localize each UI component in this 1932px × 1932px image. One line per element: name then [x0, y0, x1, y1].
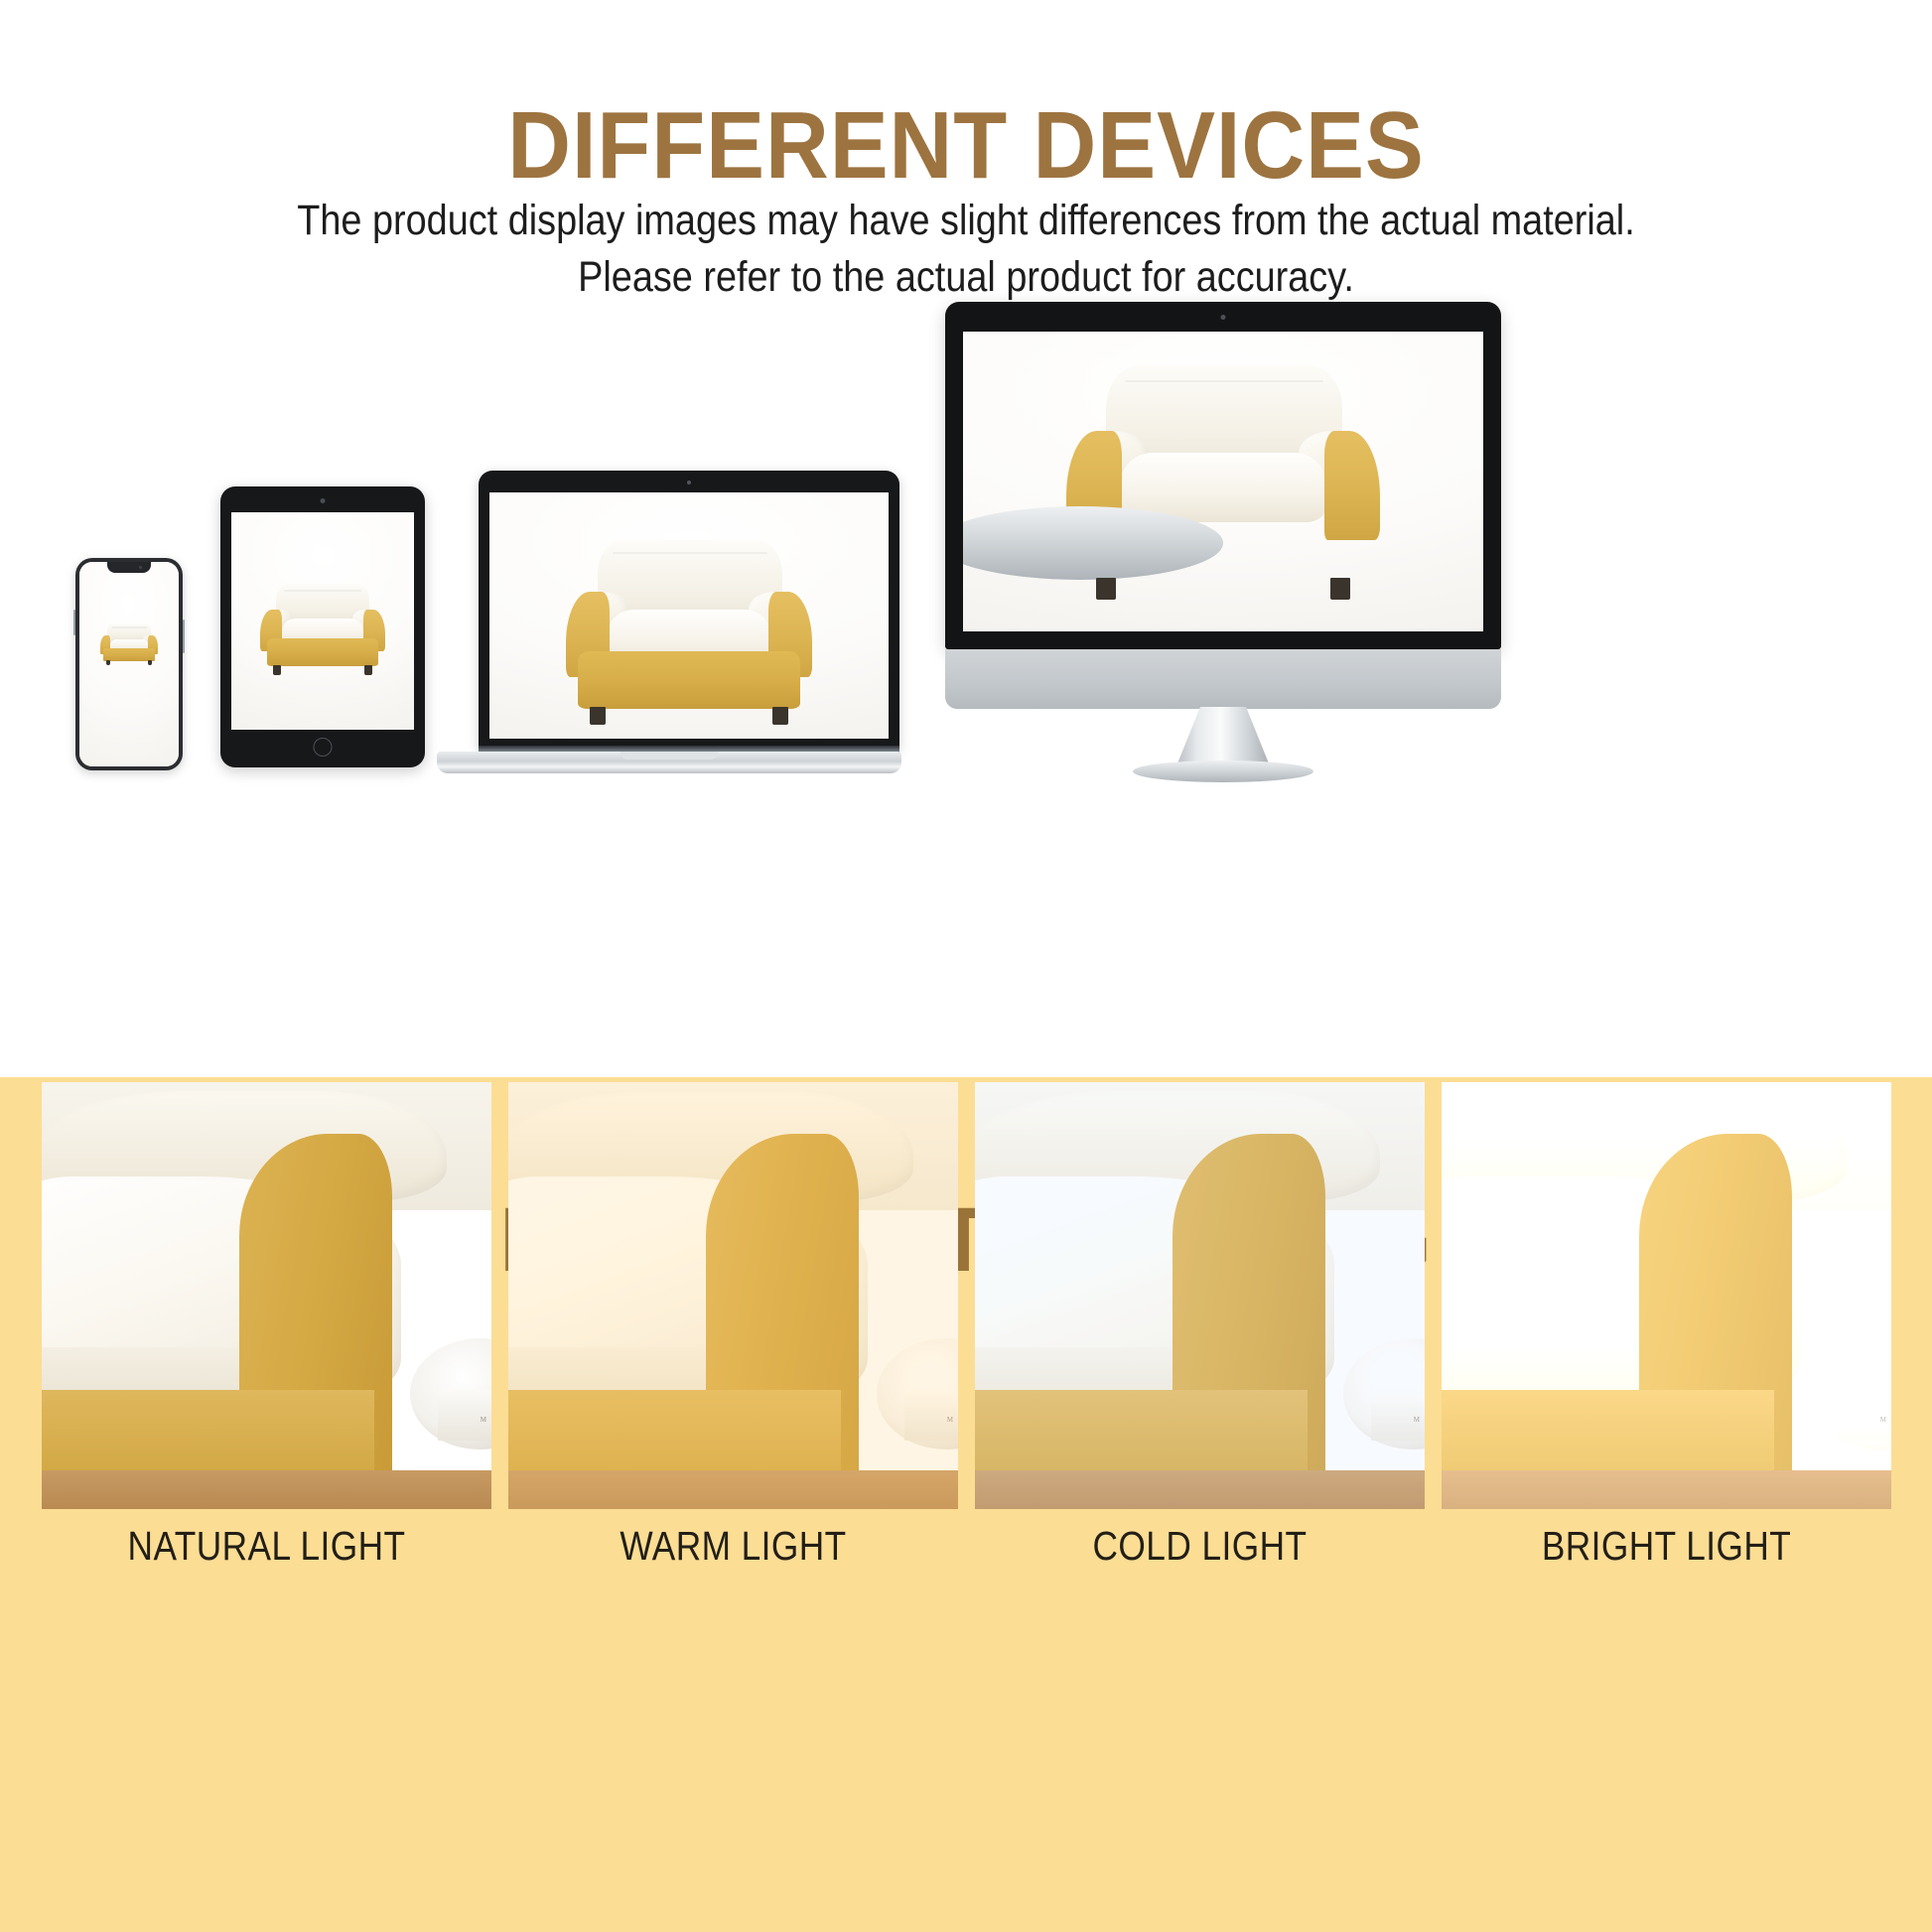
- tablet-screen: [231, 512, 414, 730]
- device-mockups-row: [0, 288, 1932, 1003]
- monitor-chin: [945, 649, 1501, 709]
- front-camera-icon: [1221, 315, 1226, 320]
- armchair-closeup-photo: M: [508, 1082, 958, 1509]
- lighting-photo-bright[interactable]: M: [1442, 1082, 1891, 1509]
- photo-floor: [975, 1470, 1425, 1509]
- tablet-screen-product-image: [231, 512, 414, 730]
- front-camera-icon: [139, 566, 142, 569]
- photo-floor: [42, 1470, 491, 1509]
- phone-screen: [79, 562, 179, 766]
- laptop-lid: [479, 471, 899, 750]
- laptop-trackpad-notch: [621, 752, 718, 759]
- tablet-mockup: [220, 486, 425, 767]
- devices-title: DIFFERENT DEVICES: [77, 91, 1855, 201]
- phone-power-button: [183, 620, 185, 653]
- tablet-home-button[interactable]: [314, 738, 333, 757]
- lighting-photo-natural[interactable]: M: [42, 1082, 491, 1509]
- different-devices-section: DIFFERENT DEVICES The product display im…: [0, 0, 1932, 1077]
- armchair-closeup-photo: M: [1442, 1082, 1891, 1509]
- photo-book-text: M: [481, 1416, 487, 1424]
- phone-volume-button: [73, 610, 75, 635]
- lighting-tile-warm: M WARM LIGHT: [508, 1082, 958, 1509]
- monitor-mockup: [945, 302, 1501, 778]
- product-detail-page: DIFFERENT DEVICES The product display im…: [0, 0, 1932, 1932]
- devices-subtitle-line-1: The product display images may have slig…: [116, 197, 1816, 245]
- monitor-screen-product-image: [963, 332, 1483, 631]
- lighting-label-bright: BRIGHT LIGHT: [1473, 1523, 1861, 1570]
- monitor-bezel: [945, 302, 1501, 649]
- laptop-mockup: [437, 471, 901, 778]
- armchair-closeup-photo: M: [975, 1082, 1425, 1509]
- phone-screen-product-image: [79, 562, 179, 766]
- lighting-label-cold: COLD LIGHT: [1007, 1523, 1394, 1570]
- lighting-label-warm: WARM LIGHT: [540, 1523, 927, 1570]
- lighting-label-natural: NATURAL LIGHT: [73, 1523, 461, 1570]
- lighting-tile-cold: M COLD LIGHT: [975, 1082, 1425, 1509]
- phone-notch: [107, 562, 151, 573]
- lighting-photo-warm[interactable]: M: [508, 1082, 958, 1509]
- photo-book-text: M: [1880, 1416, 1887, 1424]
- photo-floor: [508, 1470, 958, 1509]
- front-camera-icon: [687, 481, 691, 484]
- monitor-stand-base: [1133, 760, 1313, 782]
- armchair-closeup-photo: M: [42, 1082, 491, 1509]
- lighting-tile-bright: M BRIGHT LIGHT: [1442, 1082, 1891, 1509]
- monitor-screen: [963, 332, 1483, 631]
- lighting-tiles-row: M NATURAL LIGHT M: [42, 1082, 1890, 1509]
- monitor-stand-neck: [1175, 707, 1271, 768]
- photo-floor: [1442, 1470, 1891, 1509]
- lighting-photo-cold[interactable]: M: [975, 1082, 1425, 1509]
- photo-book-text: M: [1414, 1416, 1421, 1424]
- laptop-screen: [489, 492, 889, 739]
- front-camera-icon: [321, 498, 326, 503]
- photo-book-text: M: [947, 1416, 954, 1424]
- laptop-screen-product-image: [489, 492, 889, 739]
- lighting-tile-natural: M NATURAL LIGHT: [42, 1082, 491, 1509]
- phone-mockup: [75, 558, 183, 770]
